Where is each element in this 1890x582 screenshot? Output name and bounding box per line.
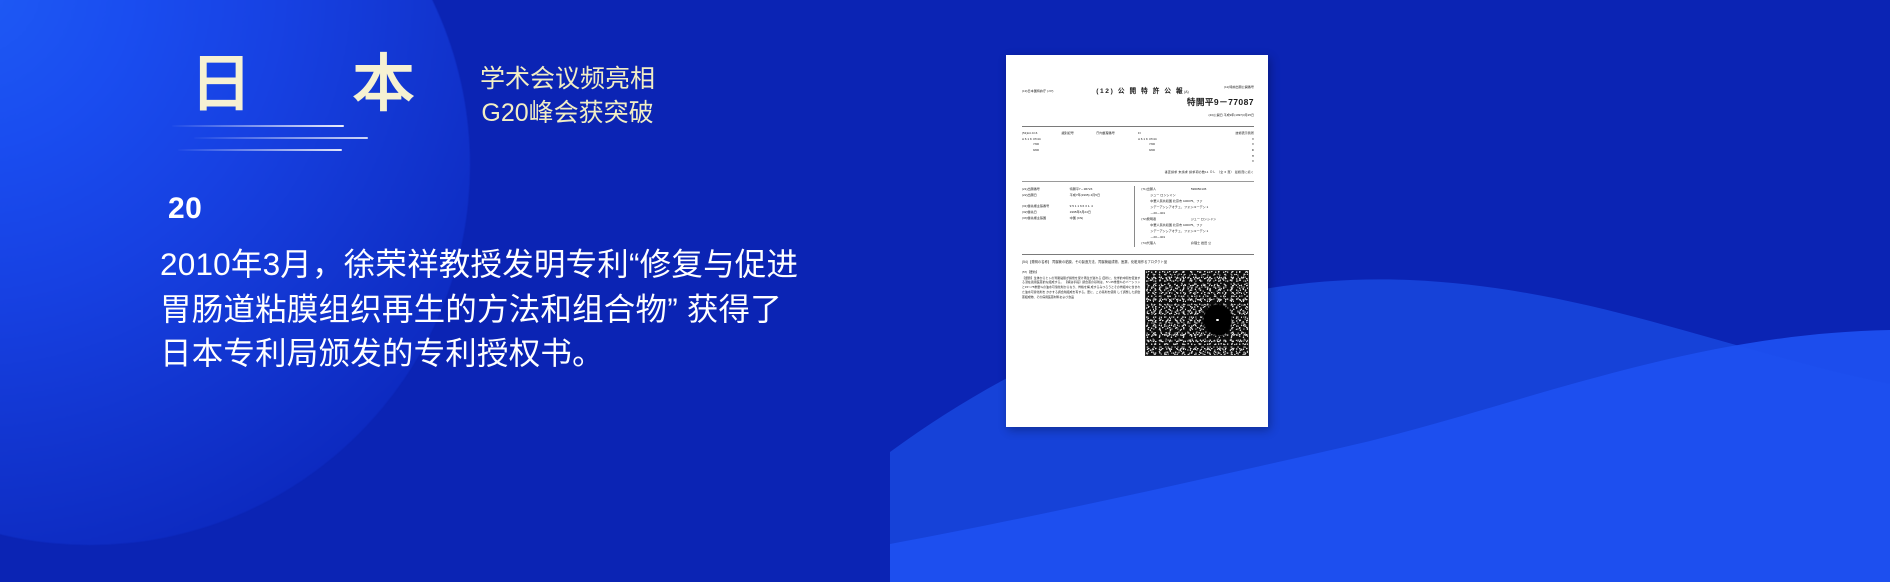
- ipc-header-idcode: 識別記号: [1061, 131, 1096, 137]
- patent-number-label: (11)特許出願公開番号: [1177, 85, 1254, 91]
- item-index-number: 20: [168, 192, 202, 226]
- micrograph-figure: [1145, 270, 1249, 356]
- underline-rule-2: [194, 137, 368, 139]
- patent-gazette-title: (12) 公 開 特 許 公 報(A): [1096, 85, 1175, 95]
- abstract-label: (57)【要約】: [1022, 270, 1140, 275]
- patent-header: (19)日本国特許庁 (J P) (12) 公 開 特 許 公 報(A) (11…: [1022, 85, 1254, 119]
- body-line-1: 2010年3月，徐荣祥教授发明专利“修复与促进: [160, 242, 860, 287]
- patent-gazette-title-group: (12) 公 開 特 許 公 報(A): [1096, 85, 1175, 95]
- patent-gazette-name: 公 開 特 許 公 報: [1118, 88, 1184, 95]
- patent-abstract-section: (57)【要約】 【課題】生体からヒトの胃腸粘膜が損傷を受け再生が遅れる 症状に…: [1022, 270, 1254, 356]
- patent-document-content: (19)日本国特許庁 (J P) (12) 公 開 特 許 公 報(A) (11…: [1022, 85, 1254, 405]
- body-line-3: 日本专利局颁发的专利授权书。: [160, 331, 860, 376]
- field-value: 平成7年(1995) 4月5日: [1070, 192, 1131, 198]
- patent-publication-date: (43)公開日 平成9年(1997)3月25日: [1177, 113, 1254, 119]
- slide-root: 日 本 学术会议频亮相 G20峰会获突破 20 2010年3月，徐荣祥教授发明专…: [0, 0, 1890, 582]
- abstract-line: と15～75重量％の油水可溶化剤からなり、骨格を構: [1022, 285, 1090, 289]
- field-row: (74)代理人 弁理士 岩田 公: [1141, 240, 1254, 246]
- ipc-class-column: (51)Int.Cl.6 A 6 1 K 47/44 7/00 9/00: [1022, 131, 1061, 165]
- ipc-mark-5: X: [1189, 159, 1254, 165]
- patent-number-group: (11)特許出願公開番号 特開平9－77087 (43)公開日 平成9年(199…: [1177, 85, 1254, 119]
- micrograph-texture: [1146, 271, 1248, 355]
- ipc-tech-column: 技術表示箇所 X X D H X: [1189, 131, 1254, 165]
- body-line-2: 胃肠道粘膜组织再生的方法和组合物” 获得了: [160, 287, 860, 332]
- ipc-fi-column: FI A 6 1 K 47/44 7/00 9/00: [1138, 131, 1189, 165]
- patent-fields-right: (71)出願人 596050145 ジュー ロンシャン 中華人民共和国 北京市 …: [1134, 186, 1254, 246]
- patent-invention-title-row: (54)【発明の名称】 胃腸管の粘膜、その製造方法、胃腸管組成物、医薬、化粧用作…: [1022, 259, 1254, 264]
- ipc-refno-column: 庁内整理番号: [1096, 131, 1138, 165]
- subtitle-line-1: 学术会议频亮相: [480, 62, 655, 96]
- patent-gazette-code: (12): [1096, 88, 1114, 95]
- underline-rule-1: [172, 125, 344, 127]
- subtitle-block: 学术会议频亮相 G20峰会获突破: [480, 62, 655, 130]
- patent-examination-note: 審査請求 未請求 請求項の数11 ＯＬ （全 6 頁） 最終頁に続く: [1022, 170, 1254, 174]
- patent-publication-number: 特開平9－77087: [1177, 94, 1254, 110]
- patent-abstract-text: (57)【要約】 【課題】生体からヒトの胃腸粘膜が損傷を受け再生が遅れる 症状に…: [1022, 270, 1145, 356]
- divider-1: [1022, 126, 1254, 127]
- ipc-header-refno: 庁内整理番号: [1096, 131, 1138, 137]
- patent-ipc-table: (51)Int.Cl.6 A 6 1 K 47/44 7/00 9/00 識別記…: [1022, 131, 1254, 165]
- subtitle-line-2: G20峰会获突破: [480, 96, 655, 130]
- invention-title-text: 胃腸管の粘膜、その製造方法、胃腸管組成物、医薬、化粧用作るプロダクト品: [1052, 260, 1167, 264]
- micrograph-dark-region: [1204, 305, 1231, 335]
- field-key: (74)代理人: [1141, 240, 1191, 246]
- patent-fields-left: (21)出願番号 特願平7－96723 (22)出願日 平成7年(1995) 4…: [1022, 186, 1134, 246]
- underline-rule-3: [178, 149, 342, 151]
- patent-bibliographic-fields: (21)出願番号 特願平7－96723 (22)出願日 平成7年(1995) 4…: [1022, 186, 1254, 246]
- field-key: (33)優先権主張国: [1022, 215, 1070, 221]
- body-text-block: 2010年3月，徐荣祥教授发明专利“修复与促进 胃肠道粘膜组织再生的方法和组合物…: [160, 242, 860, 376]
- patent-document-image: (19)日本国特許庁 (J P) (12) 公 開 特 許 公 報(A) (11…: [1006, 55, 1268, 427]
- field-value: 中国 (CN): [1070, 215, 1131, 221]
- field-row: (33)優先権主張国 中国 (CN): [1022, 215, 1130, 221]
- ipc-code-3: 9/00: [1022, 148, 1061, 154]
- abstract-line: 【解決手段】調合薬の基剤は、5～25重量％のバーシリン: [1064, 280, 1140, 284]
- patent-agency: (19)日本国特許庁 (J P): [1022, 85, 1094, 94]
- invention-title-label: (54)【発明の名称】: [1022, 260, 1051, 264]
- divider-2: [1022, 181, 1254, 182]
- field-value: 弁理士 岩田 公: [1191, 240, 1254, 246]
- field-key: (22)出願日: [1022, 192, 1070, 198]
- ipc-idcode-column: 識別記号: [1061, 131, 1096, 165]
- divider-3: [1022, 254, 1254, 255]
- field-value: 596050145: [1191, 186, 1254, 192]
- field-row: (22)出願日 平成7年(1995) 4月5日: [1022, 192, 1130, 198]
- ipc-fi-3: 9/00: [1138, 148, 1189, 154]
- abstract-line: かかする調合剤組成を有する。更に、この基剤を使用: [1046, 290, 1116, 294]
